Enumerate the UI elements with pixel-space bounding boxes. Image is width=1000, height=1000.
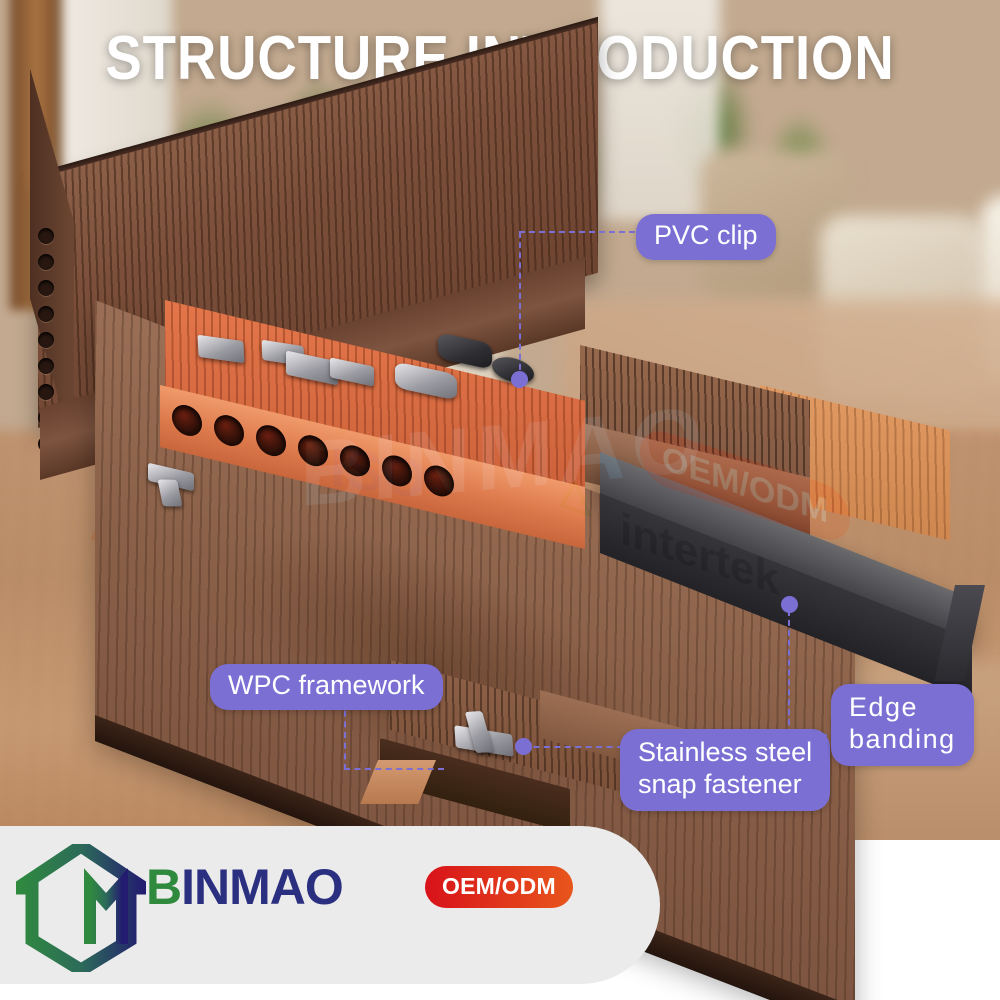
- pvc-clip-leader-horizontal: [519, 231, 635, 233]
- binmao-wordmark: BINMAO: [146, 858, 343, 916]
- footer-brand-bar: BINMAO OEM/ODM ISO SGS CE: [0, 826, 660, 984]
- fastener-leader-dot: [515, 738, 532, 755]
- edge-banding-leader-vertical: [788, 610, 790, 735]
- wordmark-letters-rest: INMAO: [181, 859, 343, 915]
- infographic-page: STRUCTURE INTRODUCTION: [0, 0, 1000, 1000]
- pvc-clip-leader-vertical: [519, 232, 521, 380]
- wpc-framework-leader-horizontal: [344, 768, 444, 770]
- wpc-framework-leader-vertical: [344, 700, 346, 770]
- binmao-house-logo-icon: [16, 844, 146, 972]
- edge-banding-leader-dot: [781, 596, 798, 613]
- callout-stainless-snap-fastener[interactable]: Stainless steel snap fastener: [620, 729, 830, 811]
- oem-odm-badge[interactable]: OEM/ODM: [425, 866, 573, 908]
- pvc-clip-leader-dot: [511, 371, 528, 388]
- fastener-leader-horizontal: [523, 746, 623, 748]
- callout-pvc-clip[interactable]: PVC clip: [636, 214, 776, 260]
- wordmark-letter-b: B: [146, 859, 181, 915]
- callout-edge-banding[interactable]: Edge banding: [831, 684, 974, 766]
- callout-wpc-framework[interactable]: WPC framework: [210, 664, 443, 710]
